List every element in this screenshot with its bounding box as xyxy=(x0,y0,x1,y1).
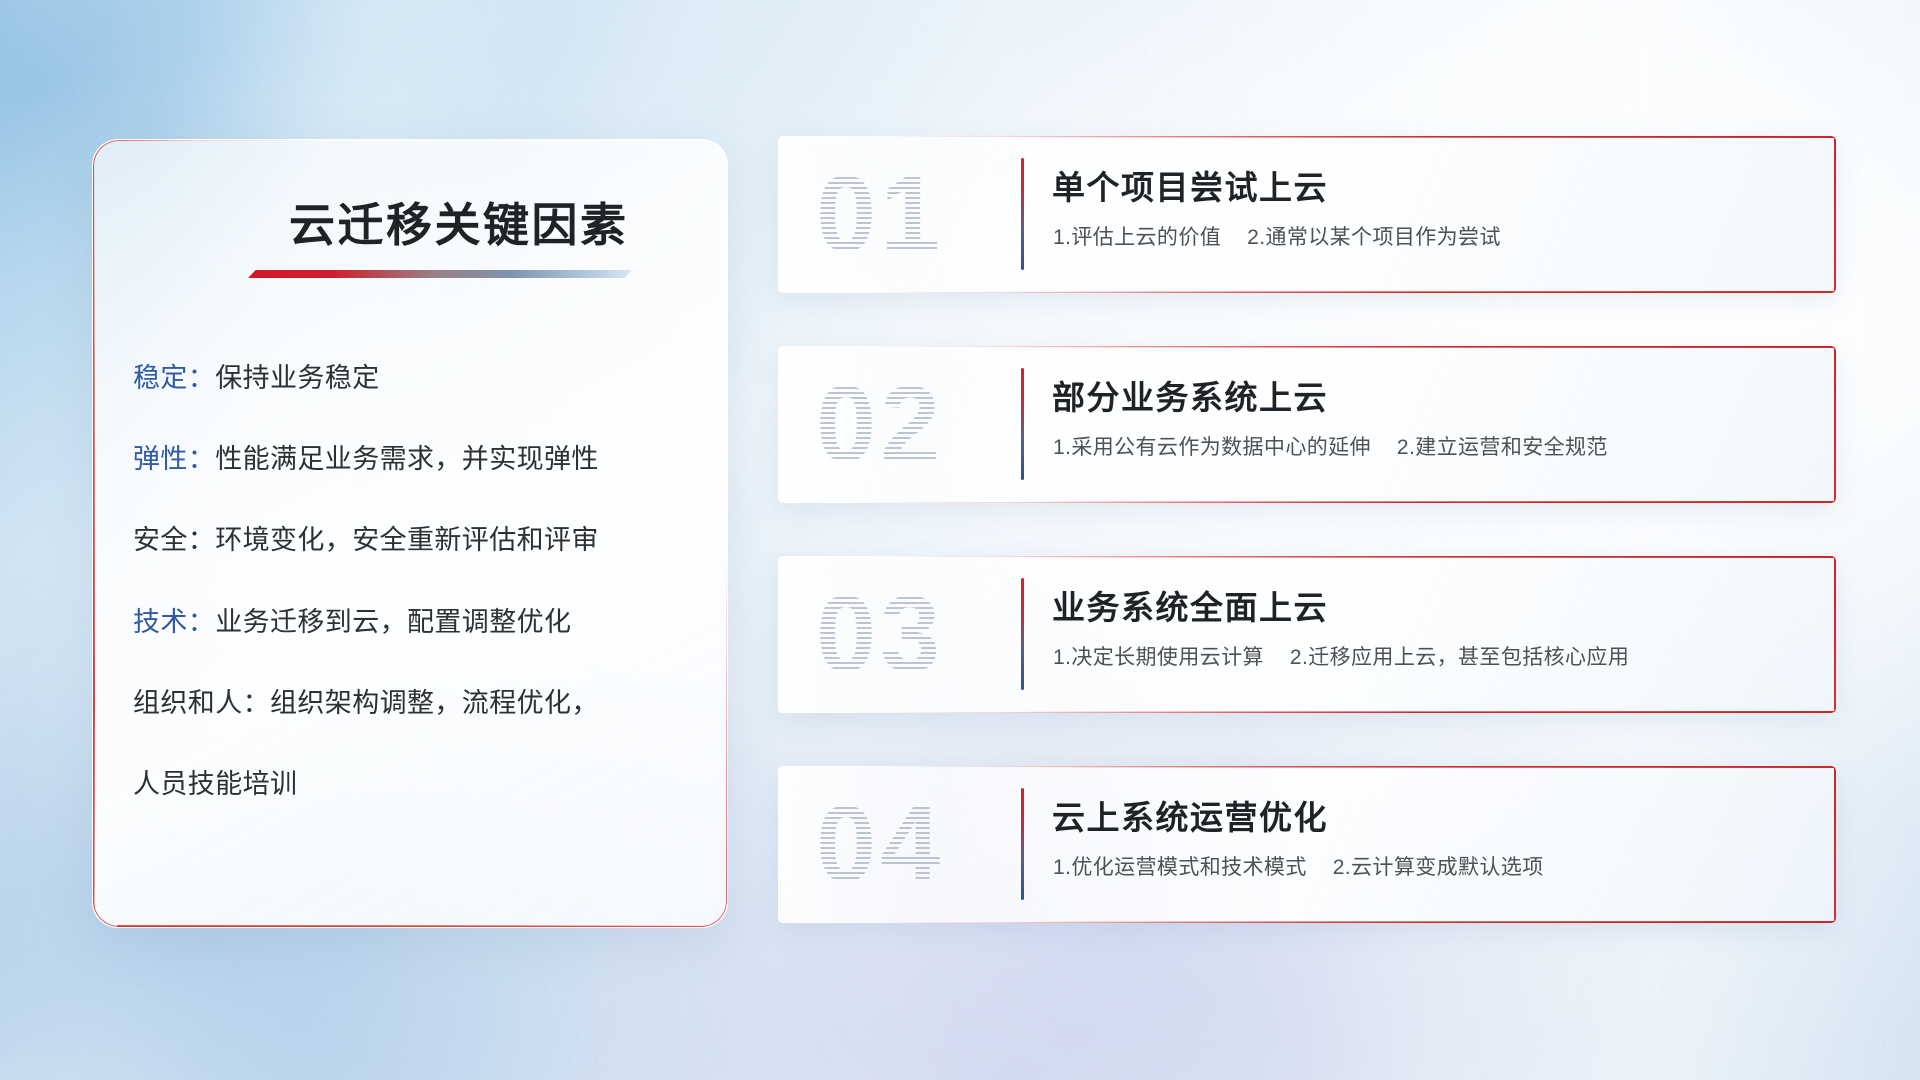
stage-desc-item-2: 2.通常以某个项目作为尝试 xyxy=(1247,226,1501,249)
stage-divider xyxy=(1021,788,1024,900)
stage-description: 1.采用公有云作为数据中心的延伸2.建立运营和安全规范 xyxy=(1053,431,1608,461)
key-factor-text: 保持业务稳定 xyxy=(215,363,379,393)
card-accent-right-line xyxy=(1834,556,1836,713)
stage-number: 01 xyxy=(816,152,996,276)
stage-description: 1.决定长期使用云计算2.迁移应用上云，甚至包括核心应用 xyxy=(1053,641,1629,671)
card-accent-bottom-line xyxy=(1011,711,1836,713)
card-accent-bottom-line xyxy=(1011,501,1836,503)
card-accent-bottom-line xyxy=(1011,921,1836,923)
stage-title: 业务系统全面上云 xyxy=(1052,581,1328,629)
key-factor-text: 性能满足业务需求，并实现弹性 xyxy=(215,444,599,474)
title-underline-gradient xyxy=(248,270,632,278)
stage-divider xyxy=(1021,368,1024,480)
stage-number: 02 xyxy=(816,362,996,486)
migration-stage-list: 01单个项目尝试上云1.评估上云的价值2.通常以某个项目作为尝试02部分业务系统… xyxy=(778,136,1836,923)
slide-canvas: 云迁移关键因素 稳定：保持业务稳定弹性：性能满足业务需求，并实现弹性安全：环境变… xyxy=(0,0,1920,1080)
key-factor-text: 业务迁移到云，配置调整优化 xyxy=(215,607,571,637)
key-factor-row: 弹性：性能满足业务需求，并实现弹性 xyxy=(133,441,693,477)
card-accent-top-line xyxy=(1011,556,1836,558)
key-factor-label: 安全： xyxy=(133,525,215,555)
key-factor-text: 人员技能培训 xyxy=(133,769,297,799)
migration-stage-card[interactable]: 01单个项目尝试上云1.评估上云的价值2.通常以某个项目作为尝试 xyxy=(778,136,1836,293)
migration-stage-card[interactable]: 02部分业务系统上云1.采用公有云作为数据中心的延伸2.建立运营和安全规范 xyxy=(778,346,1836,503)
stage-number: 03 xyxy=(816,572,996,696)
card-accent-right-line xyxy=(1834,346,1836,503)
card-accent-right-line xyxy=(1834,766,1836,923)
stage-number: 04 xyxy=(816,782,996,906)
key-factor-row: 稳定：保持业务稳定 xyxy=(133,360,693,396)
card-accent-right-line xyxy=(1834,136,1836,293)
stage-desc-item-1: 1.决定长期使用云计算 xyxy=(1053,646,1264,669)
stage-divider xyxy=(1021,158,1024,270)
key-factor-text: 组织架构调整，流程优化， xyxy=(270,688,599,718)
key-factor-row: 组织和人：组织架构调整，流程优化， xyxy=(133,685,693,721)
stage-desc-item-1: 1.采用公有云作为数据中心的延伸 xyxy=(1053,436,1371,459)
stage-desc-item-1: 1.优化运营模式和技术模式 xyxy=(1053,856,1307,879)
migration-stage-card[interactable]: 03业务系统全面上云1.决定长期使用云计算2.迁移应用上云，甚至包括核心应用 xyxy=(778,556,1836,713)
key-factors-panel: 云迁移关键因素 稳定：保持业务稳定弹性：性能满足业务需求，并实现弹性安全：环境变… xyxy=(92,139,728,928)
stage-description: 1.优化运营模式和技术模式2.云计算变成默认选项 xyxy=(1053,851,1544,881)
key-factor-label: 组织和人： xyxy=(133,688,270,718)
stage-desc-item-2: 2.迁移应用上云，甚至包括核心应用 xyxy=(1290,646,1629,669)
page-title: 云迁移关键因素 xyxy=(289,189,629,255)
key-factors-list: 稳定：保持业务稳定弹性：性能满足业务需求，并实现弹性安全：环境变化，安全重新评估… xyxy=(133,360,693,802)
migration-stage-card[interactable]: 04云上系统运营优化1.优化运营模式和技术模式2.云计算变成默认选项 xyxy=(778,766,1836,923)
card-accent-top-line xyxy=(1011,346,1836,348)
card-accent-bottom-line xyxy=(1011,291,1836,293)
key-factor-label: 技术： xyxy=(133,607,215,637)
stage-title: 云上系统运营优化 xyxy=(1052,791,1328,839)
panel-accent-bottom-line xyxy=(117,925,707,927)
stage-description: 1.评估上云的价值2.通常以某个项目作为尝试 xyxy=(1053,221,1501,251)
stage-title: 单个项目尝试上云 xyxy=(1052,161,1328,209)
stage-title: 部分业务系统上云 xyxy=(1052,371,1328,419)
card-accent-top-line xyxy=(1011,766,1836,768)
key-factor-row: 人员技能培训 xyxy=(133,766,693,802)
key-factor-row: 技术：业务迁移到云，配置调整优化 xyxy=(133,604,693,640)
key-factor-row: 安全：环境变化，安全重新评估和评审 xyxy=(133,522,693,558)
stage-desc-item-2: 2.云计算变成默认选项 xyxy=(1333,856,1544,879)
key-factor-label: 弹性： xyxy=(133,444,215,474)
key-factor-text: 环境变化，安全重新评估和评审 xyxy=(215,525,599,555)
card-accent-top-line xyxy=(1011,136,1836,138)
stage-desc-item-1: 1.评估上云的价值 xyxy=(1053,226,1221,249)
key-factor-label: 稳定： xyxy=(133,363,215,393)
panel-accent-left-line xyxy=(93,156,95,916)
stage-divider xyxy=(1021,578,1024,690)
stage-desc-item-2: 2.建立运营和安全规范 xyxy=(1397,436,1608,459)
